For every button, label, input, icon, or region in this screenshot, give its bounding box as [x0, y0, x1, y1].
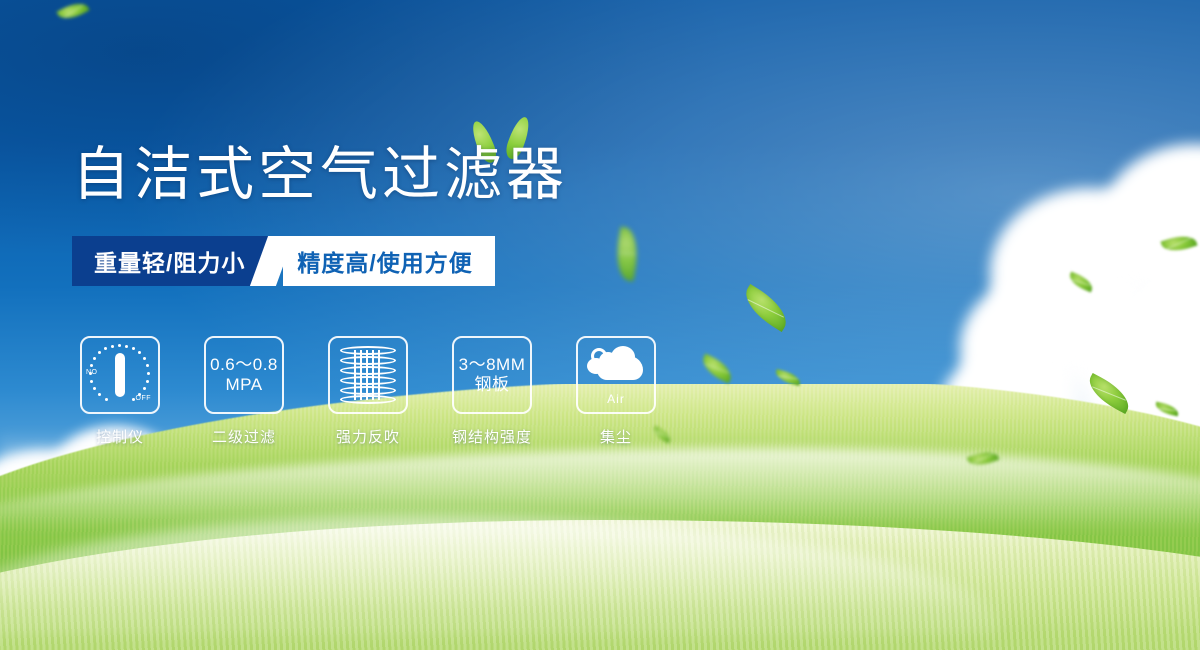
- plate-value-line2: 钢板: [475, 375, 510, 395]
- gauge-needle-icon: [115, 353, 125, 397]
- pressure-value-line2: MPA: [225, 375, 262, 395]
- feature-list: NO OFF 控制仪 0.6〜0.8 MPA 二级过滤: [72, 336, 664, 447]
- feature-icon-box: 3〜8MM 钢板: [452, 336, 532, 414]
- plate-value-line1: 3〜8MM: [459, 355, 526, 375]
- filter-stack-icon: [340, 346, 396, 404]
- banner-content: 自洁式空气过滤器 重量轻/阻力小 精度高/使用方便: [0, 0, 1200, 650]
- feature-icon-box: 0.6〜0.8 MPA: [204, 336, 284, 414]
- cloud-body-icon: [597, 356, 643, 380]
- feature-label: 控制仪: [96, 426, 144, 447]
- feature-item-dust-collection[interactable]: Air 集尘: [568, 336, 664, 447]
- page-title: 自洁式空气过滤器: [72, 146, 568, 204]
- feature-label: 强力反吹: [336, 426, 400, 447]
- feature-item-steel-strength[interactable]: 3〜8MM 钢板 钢结构强度: [444, 336, 540, 447]
- feature-icon-box: Air: [576, 336, 656, 414]
- feature-icon-box: NO OFF: [80, 336, 160, 414]
- gauge-icon: NO OFF: [87, 344, 153, 406]
- air-label: Air: [607, 392, 625, 406]
- hero-banner: 自洁式空气过滤器 重量轻/阻力小 精度高/使用方便: [0, 0, 1200, 650]
- feature-label: 二级过滤: [212, 426, 276, 447]
- feature-item-strong-blowback[interactable]: 强力反吹: [320, 336, 416, 447]
- pressure-value-line1: 0.6〜0.8: [210, 355, 278, 375]
- feature-item-control-meter[interactable]: NO OFF 控制仪: [72, 336, 168, 447]
- subtitle-right-badge: 精度高/使用方便: [283, 236, 494, 286]
- feature-label: 钢结构强度: [452, 426, 532, 447]
- feature-icon-box: [328, 336, 408, 414]
- subtitle-bar: 重量轻/阻力小 精度高/使用方便: [72, 236, 495, 286]
- gauge-on-label: NO: [86, 369, 98, 376]
- gauge-off-label: OFF: [136, 395, 152, 402]
- subtitle-left-badge: 重量轻/阻力小: [72, 236, 269, 286]
- feature-item-two-stage-filter[interactable]: 0.6〜0.8 MPA 二级过滤: [196, 336, 292, 447]
- feature-label: 集尘: [600, 426, 632, 447]
- cloud-air-icon: [585, 344, 647, 390]
